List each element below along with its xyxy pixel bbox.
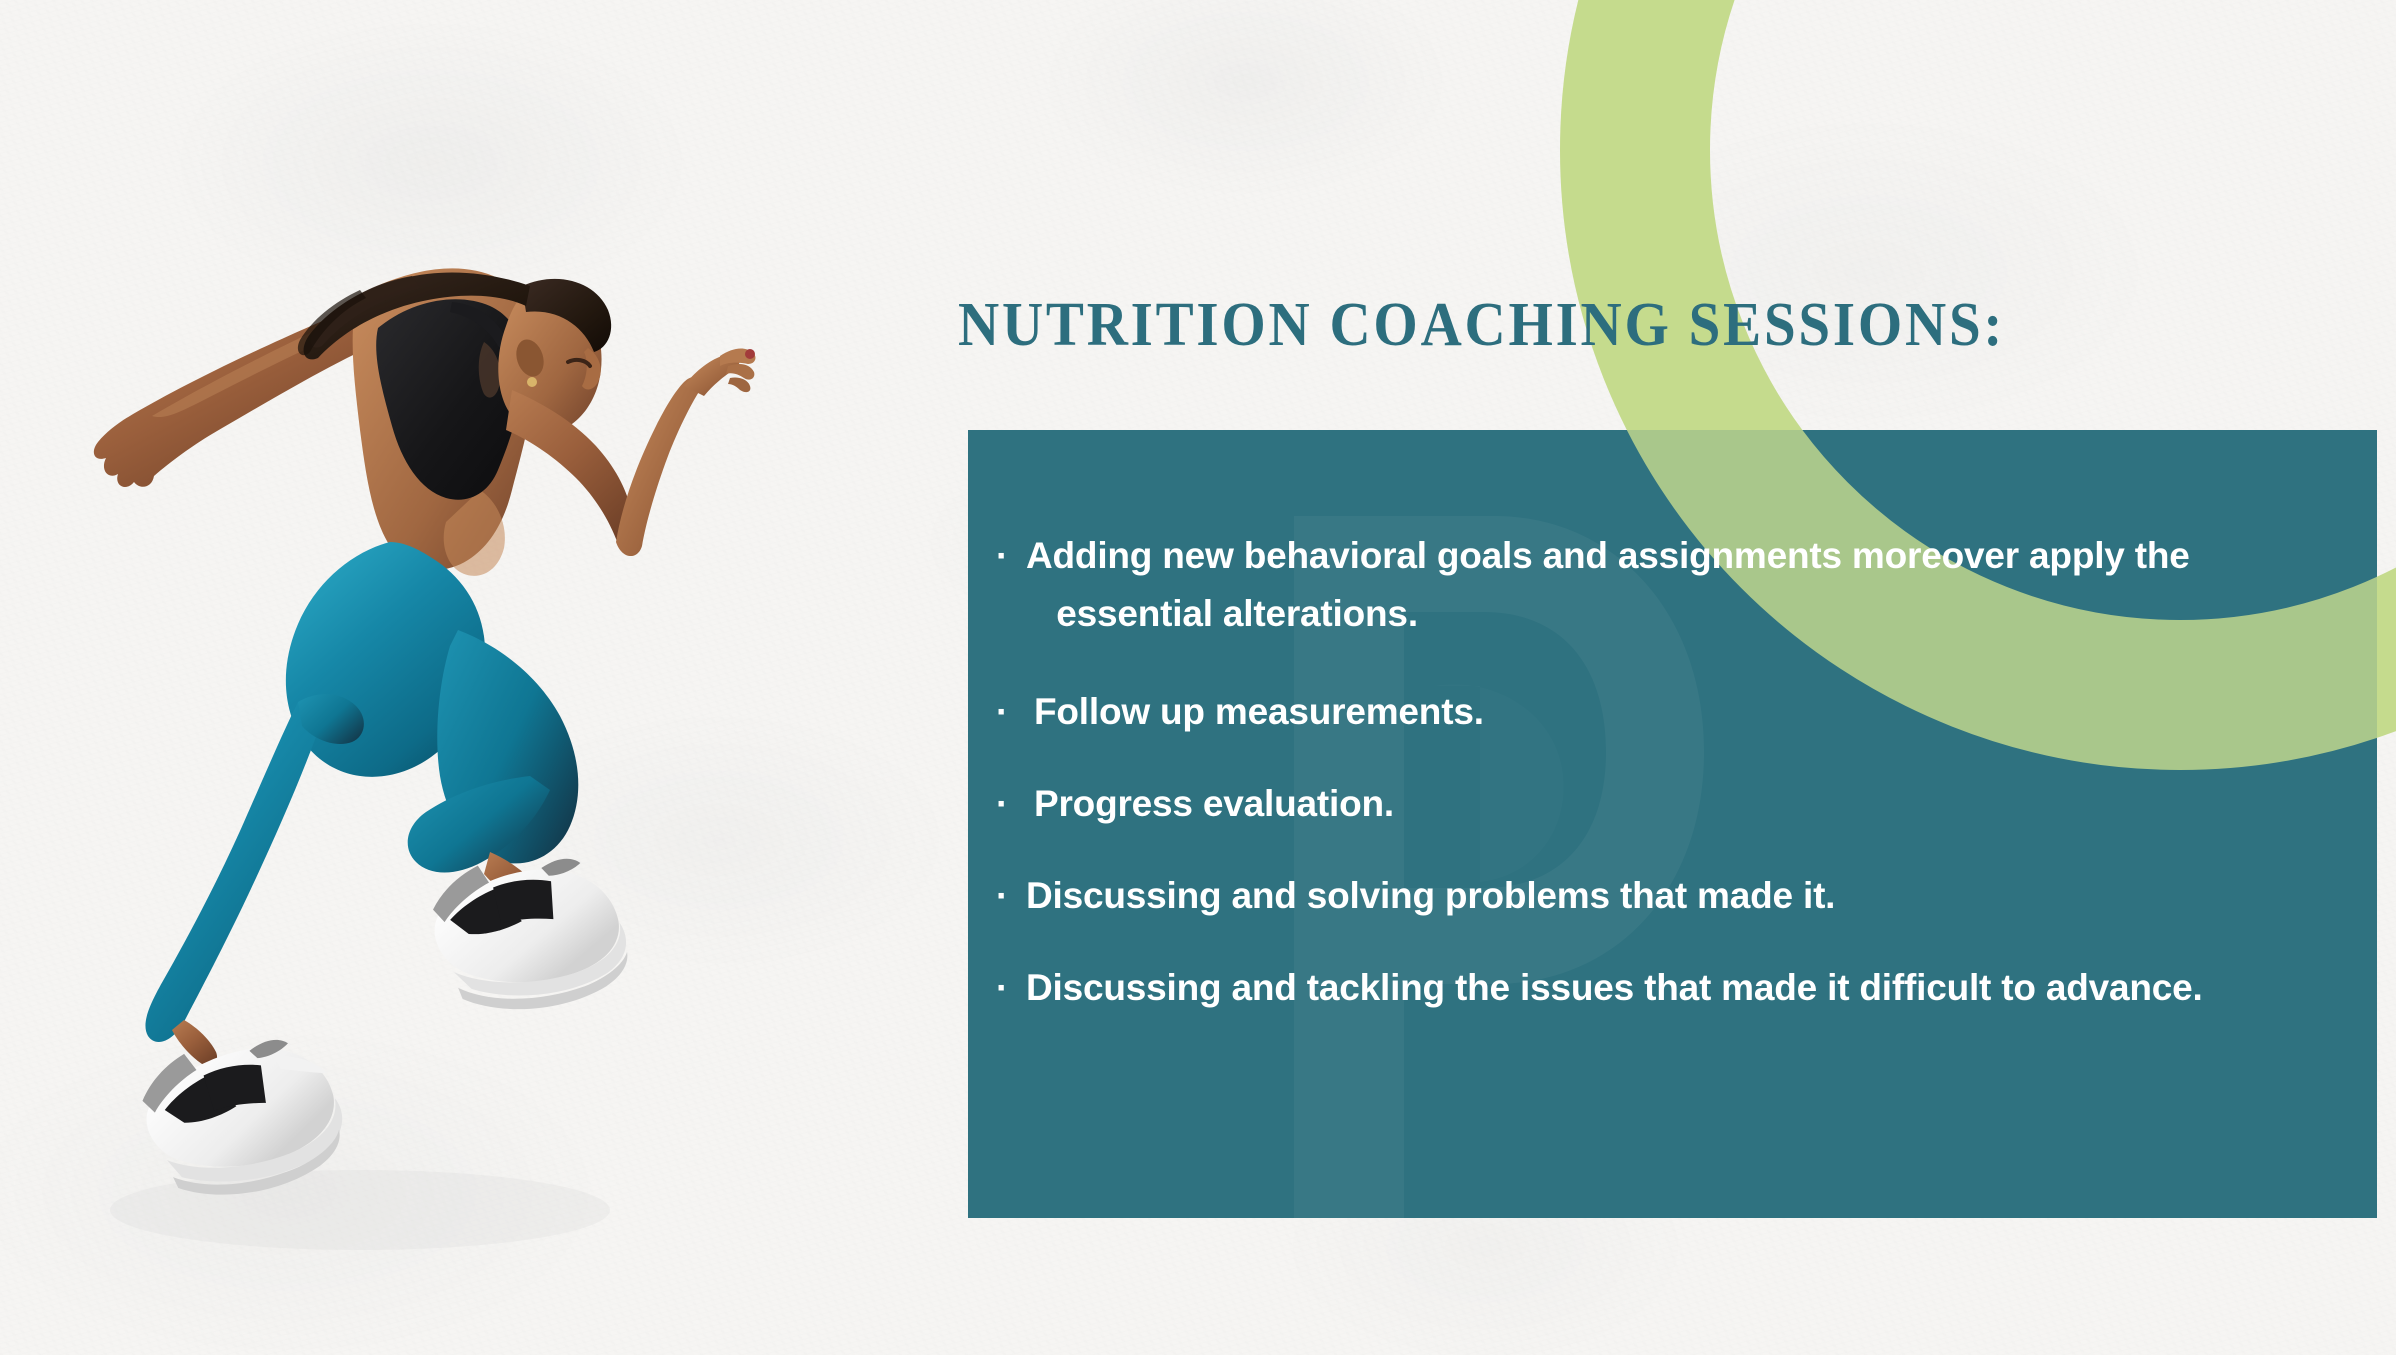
page-title: NUTRITION COACHING SESSIONS: xyxy=(958,290,2005,361)
bullet-text: Adding new behavioral goals and assignme… xyxy=(1026,527,2190,643)
list-item: · Adding new behavioral goals and assign… xyxy=(996,527,2356,643)
bullet-text: Follow up measurements. xyxy=(1034,683,1484,741)
bullet-marker: · xyxy=(996,683,1034,741)
running-athlete-photo xyxy=(60,90,800,1280)
list-item: · Progress evaluation. xyxy=(996,775,1394,833)
slide-canvas: NUTRITION COACHING SESSIONS: · Adding ne… xyxy=(0,0,2396,1355)
bullet-text: Progress evaluation. xyxy=(1034,775,1394,833)
bullet-marker: · xyxy=(996,527,1026,585)
list-item: · Discussing and tackling the issues tha… xyxy=(996,959,2203,1017)
bullet-marker: · xyxy=(996,959,1026,1017)
bullet-text: Discussing and solving problems that mad… xyxy=(1026,867,1835,925)
bullet-list: · Adding new behavioral goals and assign… xyxy=(968,430,2377,1218)
list-item: · Follow up measurements. xyxy=(996,683,1484,741)
bullet-text: Discussing and tackling the issues that … xyxy=(1026,959,2203,1017)
bullet-marker: · xyxy=(996,775,1034,833)
content-panel: · Adding new behavioral goals and assign… xyxy=(968,430,2377,1218)
bullet-marker: · xyxy=(996,867,1026,925)
list-item: · Discussing and solving problems that m… xyxy=(996,867,1835,925)
